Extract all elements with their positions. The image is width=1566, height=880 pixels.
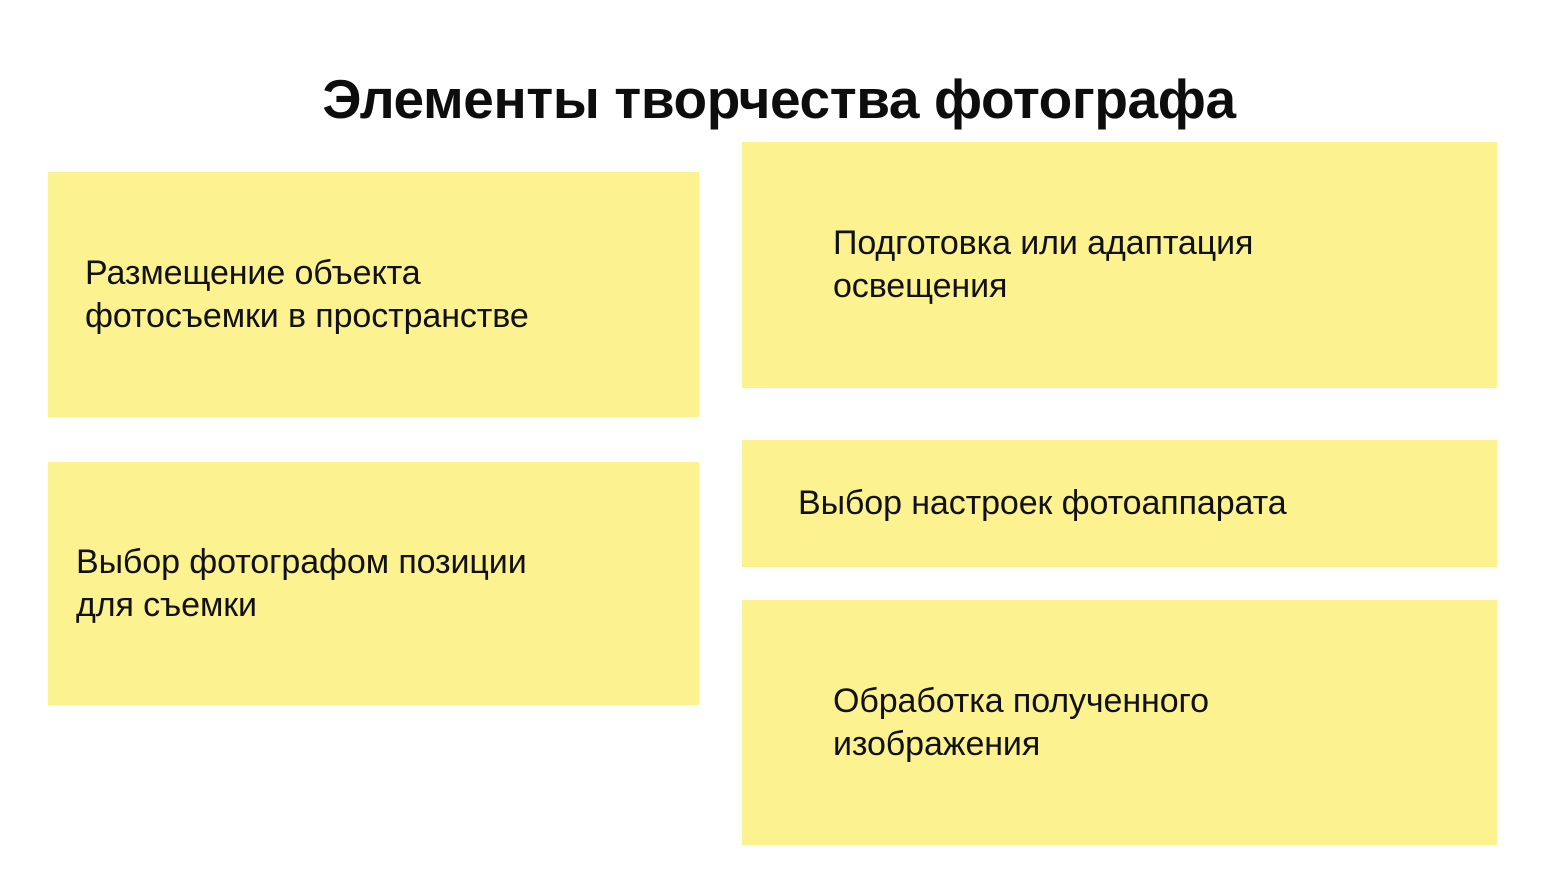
card-label: Выбор фотографом позиции для съемки [76,541,683,627]
card-camera-settings[interactable]: Выбор настроек фотоаппарата [742,440,1497,567]
card-lighting-preparation[interactable]: Подготовка или адаптация освещения [742,142,1497,388]
card-subject-placement[interactable]: Размещение объекта фотосъемки в простран… [48,172,699,417]
card-image-processing[interactable]: Обработка полученного изображения [742,600,1497,845]
slide-canvas: Элементы творчества фотографа Размещение… [0,0,1566,880]
card-label: Обработка полученного изображения [833,680,1477,766]
card-label: Подготовка или адаптация освещения [833,222,1477,308]
card-label: Выбор настроек фотоаппарата [798,482,1477,525]
page-title: Элементы творчества фотографа [0,67,1562,131]
card-photographer-position[interactable]: Выбор фотографом позиции для съемки [48,462,699,705]
card-label: Размещение объекта фотосъемки в простран… [85,252,683,338]
